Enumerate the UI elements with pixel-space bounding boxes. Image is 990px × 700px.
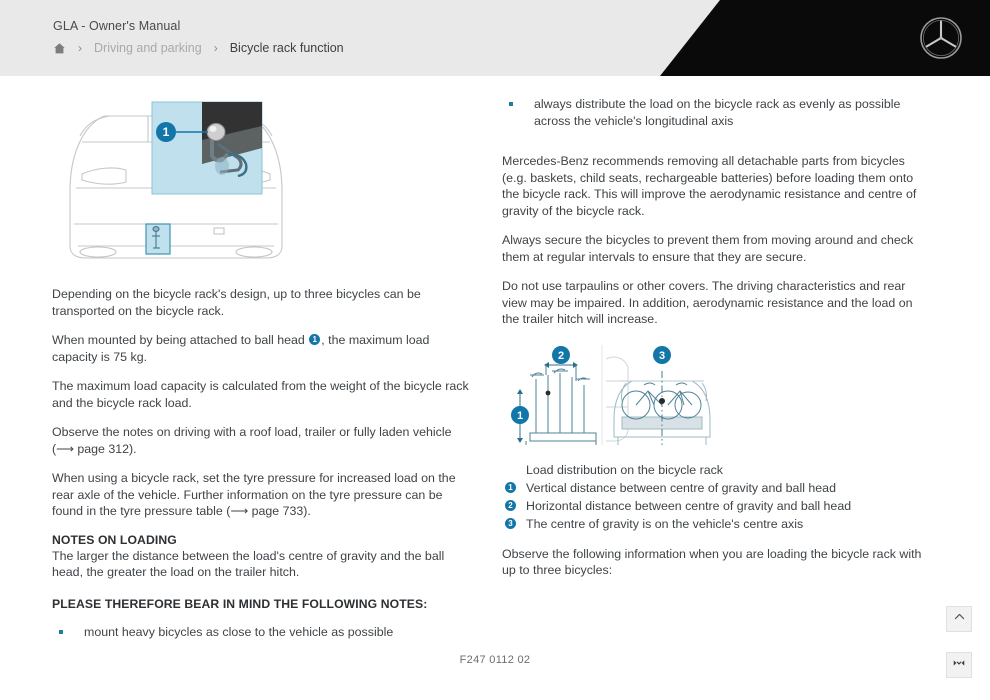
left-paragraph-2: When mounted by being attached to ball h… [52,332,472,365]
right-paragraph-3: Do not use tarpaulins or other covers. T… [502,278,922,328]
svg-text:3: 3 [659,350,665,362]
left-paragraph-1: Depending on the bicycle rack's design, … [52,286,472,319]
mercedes-benz-star-logo [918,15,964,61]
left-paragraph-5[interactable]: When using a bicycle rack, set the tyre … [52,470,472,520]
feedback-button[interactable] [946,652,972,678]
left-paragraph-3: The maximum load capacity is calculated … [52,378,472,411]
legend-item-3: 3 The centre of gravity is on the vehicl… [502,515,922,533]
feedback-icon [952,656,966,675]
legend-badge-3: 3 [505,518,516,529]
right-paragraph-4: Observe the following information when y… [502,546,922,579]
page-footer-code: F247 0112 02 [0,654,990,666]
bullet-square-icon [59,630,63,634]
legend-caption: Load distribution on the bicycle rack [502,461,922,479]
legend-item-2-text: Horizontal distance between centre of gr… [526,499,851,513]
right-bullet-list: always distribute the load on the bicycl… [502,96,922,129]
svg-text:1: 1 [163,125,170,139]
legend-item-1: 1 Vertical distance between centre of gr… [502,479,922,497]
scroll-to-top-button[interactable] [946,606,972,632]
left-column: 1 Depending on the bicycle rack's design… [52,96,472,653]
right-paragraph-1: Mercedes-Benz recommends removing all de… [502,153,922,219]
svg-text:1: 1 [517,410,523,422]
breadcrumb-parent[interactable]: Driving and parking [94,41,202,55]
legend-badge-1: 1 [505,482,516,493]
figure-legend: Load distribution on the bicycle rack 1 … [502,461,922,533]
figure-vehicle-ball-head: 1 [52,96,472,286]
breadcrumb-separator-2: › [214,41,218,55]
document-page: 1 Depending on the bicycle rack's design… [0,76,990,700]
chevron-up-icon [953,610,966,628]
svg-text:2: 2 [558,350,564,362]
legend-badge-2: 2 [505,500,516,511]
right-column: always distribute the load on the bicycl… [502,96,922,592]
manual-title: GLA - Owner's Manual [53,19,180,33]
home-icon[interactable] [53,42,66,55]
list-item-text: mount heavy bicycles as close to the veh… [84,625,393,639]
callout-badge-1: 1 [309,334,320,345]
breadcrumb-current: Bicycle rack function [230,41,344,55]
bullet-square-icon [509,102,513,106]
right-paragraph-2: Always secure the bicycles to prevent th… [502,232,922,265]
breadcrumb: › Driving and parking › Bicycle rack fun… [53,41,344,55]
left-bullet-list: mount heavy bicycles as close to the veh… [52,624,472,641]
list-item-text: always distribute the load on the bicycl… [534,97,900,128]
heading-bear-in-mind: PLEASE THEREFORE BEAR IN MIND THE FOLLOW… [52,597,472,611]
figure-load-distribution: 2 1 3 [502,341,922,451]
heading-notes-on-loading: NOTES ON LOADING [52,533,472,547]
notes-on-loading-body: The larger the distance between the load… [52,548,472,581]
left-paragraph-4[interactable]: Observe the notes on driving with a roof… [52,424,472,457]
legend-item-2: 2 Horizontal distance between centre of … [502,497,922,515]
breadcrumb-separator-1: › [78,41,82,55]
legend-item-3-text: The centre of gravity is on the vehicle'… [526,517,803,531]
app-header: GLA - Owner's Manual › Driving and parki… [0,0,990,76]
list-item: always distribute the load on the bicycl… [502,96,922,129]
left-paragraph-2-before: When mounted by being attached to ball h… [52,333,305,347]
list-item: mount heavy bicycles as close to the veh… [52,624,472,641]
legend-item-1-text: Vertical distance between centre of grav… [526,481,836,495]
